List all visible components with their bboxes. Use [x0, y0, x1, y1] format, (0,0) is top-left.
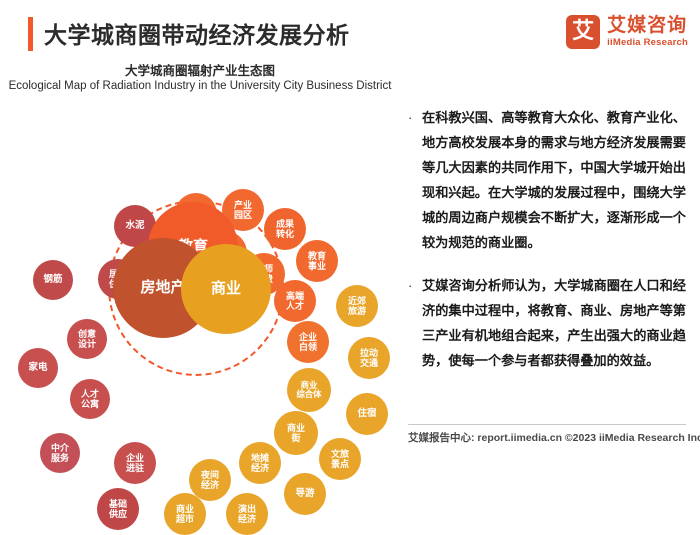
- bubble-label: 导游: [295, 489, 314, 500]
- title-accent-bar: [28, 17, 33, 51]
- analysis-paragraph: ·在科教兴国、高等教育大众化、教育产业化、地方高校发展本身的需求与地方经济发展需…: [408, 105, 686, 255]
- bubble-label: 教育 事业: [308, 251, 326, 271]
- satellite-bubble: 成果 转化: [264, 208, 306, 250]
- satellite-bubble: 创意 设计: [67, 319, 107, 359]
- satellite-bubble: 导游: [284, 473, 326, 515]
- bubble-label: 近郊 旅游: [348, 296, 366, 316]
- chart-title-en: Ecological Map of Radiation Industry in …: [0, 80, 400, 92]
- bubble-label: 创意 设计: [78, 329, 96, 349]
- logo-mark-icon: 艾: [566, 15, 600, 49]
- satellite-bubble: 教育 事业: [296, 240, 338, 282]
- satellite-bubble: 高端 人才: [274, 280, 316, 322]
- satellite-bubble: 企业 进驻: [114, 442, 156, 484]
- satellite-bubble: 拉动 交通: [348, 337, 390, 379]
- bubble-label: 基础 供应: [109, 499, 127, 519]
- bubble-label: 钢筋: [43, 275, 62, 286]
- logo-name-en: iiMedia Research: [607, 38, 688, 48]
- bubble-label: 企业 白领: [299, 332, 317, 352]
- satellite-bubble: 近郊 旅游: [336, 285, 378, 327]
- satellite-bubble: 钢筋: [33, 260, 73, 300]
- footer-source: 艾媒报告中心: report.iimedia.cn ©2023 iiMedia …: [408, 430, 690, 445]
- bubble-label: 中介 服务: [51, 443, 69, 463]
- bubble-label: 商业: [211, 281, 241, 298]
- logo-text: 艾媒咨询 iiMedia Research: [607, 16, 688, 48]
- bubble-label: 成果 转化: [276, 219, 294, 239]
- analysis-paragraph-text: 艾媒咨询分析师认为，大学城商圈在人口和经济的集中过程中，将教育、商业、房地产等第…: [422, 273, 686, 373]
- analysis-paragraph: ·艾媒咨询分析师认为，大学城商圈在人口和经济的集中过程中，将教育、商业、房地产等…: [408, 273, 686, 373]
- bubble-diagram: 水泥钢筋居民 住宅商业 用地创意 设计家电人才 公寓中介 服务企业 进驻基础 供…: [0, 96, 400, 441]
- logo-name-cn: 艾媒咨询: [607, 16, 688, 35]
- chart-title-cn: 大学城商圈辐射产业生态图: [0, 60, 400, 79]
- bullet-icon: ·: [408, 105, 422, 255]
- bubble-label: 产业 园区: [234, 200, 252, 220]
- bubble-label: 家电: [28, 363, 47, 374]
- satellite-bubble: 夜间 经济: [189, 459, 231, 501]
- satellite-bubble: 地摊 经济: [239, 442, 281, 484]
- bubble-label: 水泥: [125, 221, 144, 232]
- satellite-bubble: 商业 综合体: [287, 368, 331, 412]
- bullet-icon: ·: [408, 273, 422, 373]
- bubble-label: 住宿: [357, 409, 376, 420]
- satellite-bubble: 商业 街: [274, 411, 318, 455]
- bubble-label: 商业 街: [287, 423, 305, 443]
- brand-logo: 艾 艾媒咨询 iiMedia Research: [566, 12, 688, 52]
- satellite-bubble: 商业 超市: [164, 493, 206, 535]
- satellite-bubble: 文旅 景点: [319, 438, 361, 480]
- satellite-bubble: 企业 白领: [287, 321, 329, 363]
- analysis-text-column: ·在科教兴国、高等教育大众化、教育产业化、地方高校发展本身的需求与地方经济发展需…: [408, 105, 686, 391]
- satellite-bubble: 家电: [18, 348, 58, 388]
- bubble-label: 夜间 经济: [201, 470, 219, 490]
- bubble-label: 文旅 景点: [331, 449, 349, 469]
- page-title: 大学城商圈带动经济发展分析: [44, 16, 350, 50]
- satellite-bubble: 中介 服务: [40, 433, 80, 473]
- bubble-label: 高端 人才: [286, 291, 304, 311]
- bubble-label: 拉动 交通: [360, 348, 378, 368]
- bubble-label: 商业 超市: [176, 504, 194, 524]
- satellite-bubble: 人才 公寓: [70, 379, 110, 419]
- bubble-label: 人才 公寓: [81, 389, 99, 409]
- satellite-bubble: 基础 供应: [97, 488, 139, 530]
- footer-divider: [408, 424, 686, 425]
- bubble-label: 演出 经济: [238, 504, 256, 524]
- satellite-bubble: 演出 经济: [226, 493, 268, 535]
- page-header: 大学城商圈带动经济发展分析 艾 艾媒咨询 iiMedia Research: [0, 0, 700, 62]
- core-bubble: 商业: [181, 244, 271, 334]
- satellite-bubble: 住宿: [346, 393, 388, 435]
- bubble-label: 企业 进驻: [126, 453, 144, 473]
- bubble-label: 房地产: [140, 280, 185, 297]
- bubble-label: 商业 综合体: [296, 381, 321, 400]
- analysis-paragraph-text: 在科教兴国、高等教育大众化、教育产业化、地方高校发展本身的需求与地方经济发展需要…: [422, 105, 686, 255]
- bubble-label: 地摊 经济: [251, 453, 269, 473]
